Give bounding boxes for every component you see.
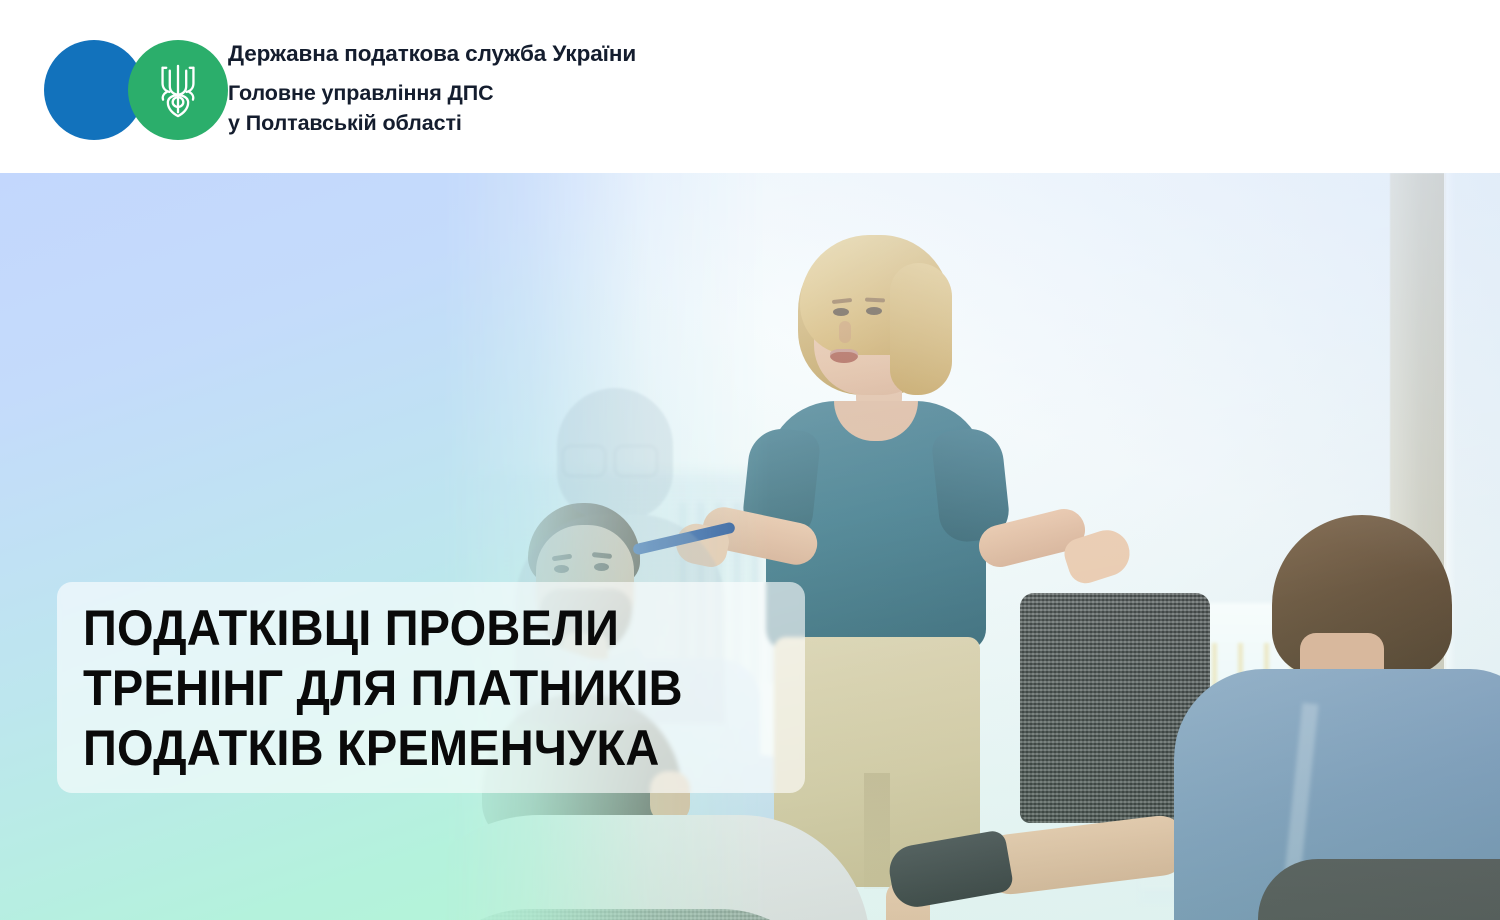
org-name-department: Головне управління ДПС [228,78,636,108]
site-header: Державна податкова служба України Головн… [0,0,1500,173]
presenter-hair-side [890,263,952,395]
right-man-denim-shirt [1140,503,1500,920]
logo-green-circle-icon [128,40,228,140]
headline-line-2: ТРЕНІНГ ДЛЯ ПЛАТНИКІВ [83,658,737,718]
org-name-national: Державна податкова служба України [228,40,636,68]
org-name-region: у Полтавській області [228,108,636,138]
presenter-eye-right [866,307,882,315]
dps-logo[interactable] [44,40,224,140]
ukraine-trident-emblem-icon [155,62,201,118]
presenter-mouth [830,349,858,363]
presenter-eye-left [833,308,849,316]
ghost-glasses-left [561,444,607,478]
news-banner-page: Державна податкова служба України Головн… [0,0,1500,920]
ghost-glasses-right [613,444,659,478]
organisation-title-block: Державна податкова служба України Головн… [228,40,636,138]
presenter-skirt-pleat [864,773,890,889]
presenter-nose [839,321,851,343]
hero-banner: ПОДАТКІВЦІ ПРОВЕЛИ ТРЕНІНГ ДЛЯ ПЛАТНИКІВ… [0,173,1500,920]
foreground-man-shirt [440,815,870,920]
headline-line-3: ПОДАТКІВ КРЕМЕНЧУКА [83,718,737,778]
right-man-chair-lower [1258,859,1500,920]
headline-line-1: ПОДАТКІВЦІ ПРОВЕЛИ [83,598,737,658]
headline-card: ПОДАТКІВЦІ ПРОВЕЛИ ТРЕНІНГ ДЛЯ ПЛАТНИКІВ… [57,582,805,793]
